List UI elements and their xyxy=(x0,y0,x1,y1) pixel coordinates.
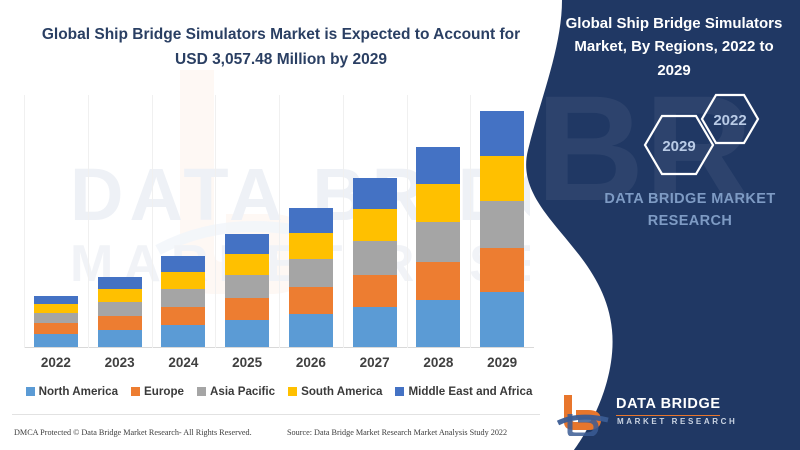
x-label-2023: 2023 xyxy=(90,355,150,370)
bar-segment-europe[interactable] xyxy=(34,323,78,334)
x-label-2027: 2027 xyxy=(345,355,405,370)
bar-segment-south-america[interactable] xyxy=(98,289,142,302)
legend-item-north-america[interactable]: North America xyxy=(26,385,118,398)
bar-2025[interactable] xyxy=(225,234,269,347)
legend-swatch-icon xyxy=(288,387,297,396)
grid-column xyxy=(407,95,408,348)
bar-2024[interactable] xyxy=(161,256,205,347)
bar-segment-north-america[interactable] xyxy=(353,307,397,347)
bar-segment-middle-east-and-africa[interactable] xyxy=(416,147,460,184)
grid-column xyxy=(215,95,216,348)
chart-legend: North AmericaEuropeAsia PacificSouth Ame… xyxy=(24,382,534,400)
dbmr-logo: DATA BRIDGE MARKET RESEARCH xyxy=(556,392,736,436)
infographic-root: DATA BRIDGE MARKET RESEARCH Global Ship … xyxy=(0,0,800,450)
bar-segment-north-america[interactable] xyxy=(289,314,333,347)
legend-label: Europe xyxy=(144,385,184,398)
hexagon-pair: 2029 2022 xyxy=(620,88,790,198)
legend-swatch-icon xyxy=(197,387,206,396)
grid-column xyxy=(88,95,89,348)
bar-2028[interactable] xyxy=(416,147,460,347)
bar-segment-middle-east-and-africa[interactable] xyxy=(353,178,397,209)
bar-segment-middle-east-and-africa[interactable] xyxy=(161,256,205,272)
bar-segment-europe[interactable] xyxy=(98,316,142,330)
bar-2027[interactable] xyxy=(353,178,397,347)
bar-segment-south-america[interactable] xyxy=(353,209,397,241)
bar-2026[interactable] xyxy=(289,208,333,347)
bar-segment-europe[interactable] xyxy=(161,307,205,325)
bar-segment-europe[interactable] xyxy=(225,298,269,320)
grid-column xyxy=(279,95,280,348)
legend-label: South America xyxy=(301,385,382,398)
legend-swatch-icon xyxy=(131,387,140,396)
bar-segment-south-america[interactable] xyxy=(416,184,460,222)
bar-segment-north-america[interactable] xyxy=(34,334,78,347)
bar-segment-middle-east-and-africa[interactable] xyxy=(34,296,78,304)
grid-column xyxy=(470,95,471,348)
bar-segment-asia-pacific[interactable] xyxy=(353,241,397,275)
bar-segment-south-america[interactable] xyxy=(225,254,269,275)
bar-segment-europe[interactable] xyxy=(416,262,460,300)
bar-segment-south-america[interactable] xyxy=(161,272,205,289)
bar-segment-south-america[interactable] xyxy=(34,304,78,313)
grid-column xyxy=(343,95,344,348)
bar-segment-asia-pacific[interactable] xyxy=(34,313,78,323)
legend-label: Asia Pacific xyxy=(210,385,275,398)
panel-brand-text: DATA BRIDGE MARKET RESEARCH xyxy=(590,188,790,233)
bar-segment-asia-pacific[interactable] xyxy=(289,259,333,287)
x-label-2025: 2025 xyxy=(217,355,277,370)
bar-segment-middle-east-and-africa[interactable] xyxy=(98,277,142,289)
bar-segment-europe[interactable] xyxy=(353,275,397,307)
bar-segment-north-america[interactable] xyxy=(98,330,142,347)
bar-segment-middle-east-and-africa[interactable] xyxy=(289,208,333,233)
logo-name: DATA BRIDGE xyxy=(616,396,721,412)
bar-chart xyxy=(24,95,534,350)
bar-segment-asia-pacific[interactable] xyxy=(98,302,142,316)
logo-tagline: MARKET RESEARCH xyxy=(617,417,737,426)
footer-divider xyxy=(12,414,540,415)
x-label-2024: 2024 xyxy=(153,355,213,370)
legend-item-asia-pacific[interactable]: Asia Pacific xyxy=(197,385,275,398)
hexagon-group: 2029 2022 xyxy=(620,88,790,198)
panel-subtitle: Global Ship Bridge Simulators Market, By… xyxy=(560,12,788,82)
legend-swatch-icon xyxy=(395,387,404,396)
grid-column xyxy=(152,95,153,348)
footer-copyright: DMCA Protected © Data Bridge Market Rese… xyxy=(14,428,252,437)
x-label-2026: 2026 xyxy=(281,355,341,370)
grid-column xyxy=(24,95,25,348)
footer-source: Source: Data Bridge Market Research Mark… xyxy=(287,428,507,437)
x-axis-labels: 20222023202420252026202720282029 xyxy=(24,355,534,375)
bar-segment-middle-east-and-africa[interactable] xyxy=(225,234,269,254)
legend-item-south-america[interactable]: South America xyxy=(288,385,382,398)
legend-label: North America xyxy=(39,385,118,398)
bar-segment-north-america[interactable] xyxy=(161,325,205,347)
bar-2023[interactable] xyxy=(98,277,142,347)
hexagon-2029-label: 2029 xyxy=(662,138,695,155)
bar-segment-north-america[interactable] xyxy=(416,300,460,347)
bar-segment-north-america[interactable] xyxy=(225,320,269,347)
page-title: Global Ship Bridge Simulators Market is … xyxy=(36,22,526,72)
legend-item-europe[interactable]: Europe xyxy=(131,385,184,398)
bar-segment-asia-pacific[interactable] xyxy=(416,222,460,262)
legend-swatch-icon xyxy=(26,387,35,396)
x-label-2028: 2028 xyxy=(408,355,468,370)
bar-segment-south-america[interactable] xyxy=(289,233,333,259)
hexagon-2022-label: 2022 xyxy=(713,112,746,129)
bar-2022[interactable] xyxy=(34,296,78,347)
x-label-2022: 2022 xyxy=(26,355,86,370)
bar-segment-asia-pacific[interactable] xyxy=(225,275,269,298)
bar-segment-europe[interactable] xyxy=(289,287,333,314)
plot-area xyxy=(24,95,534,348)
logo-mark-icon xyxy=(556,392,612,436)
bar-segment-asia-pacific[interactable] xyxy=(161,289,205,307)
